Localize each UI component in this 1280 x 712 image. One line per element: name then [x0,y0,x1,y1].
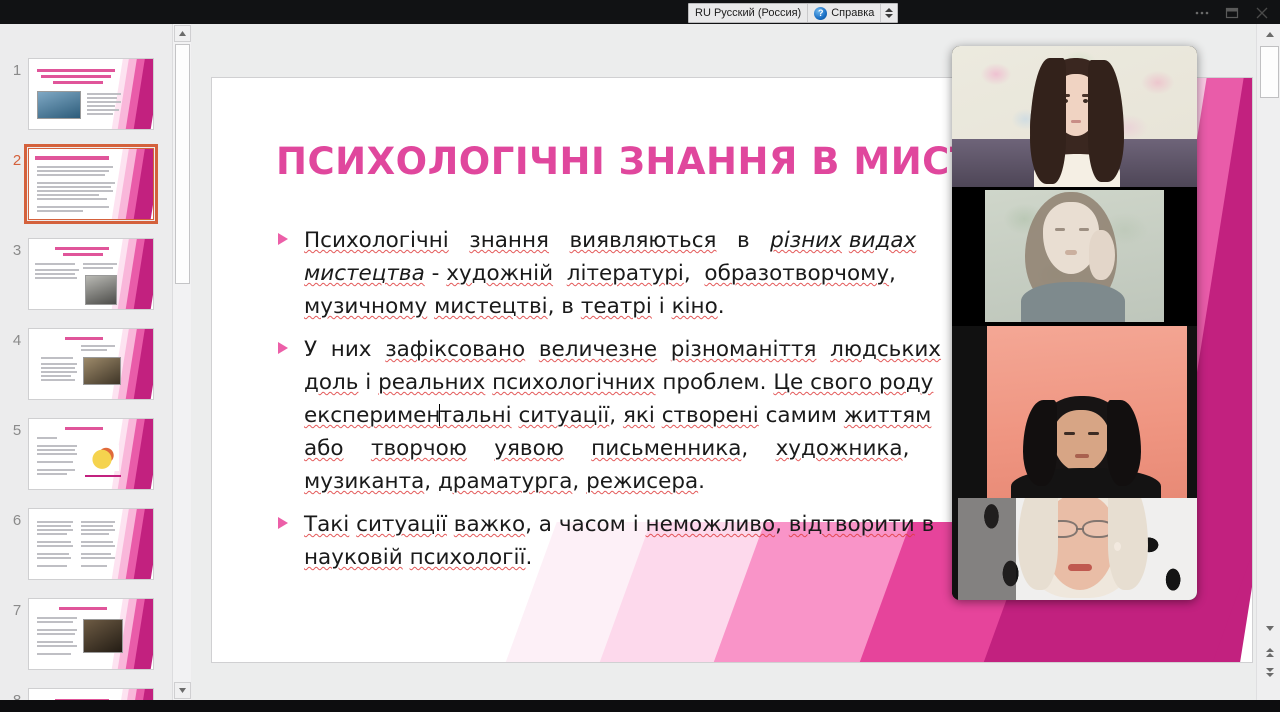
thumbnail-slide-7[interactable]: 7 [6,598,168,670]
language-bar[interactable]: RU Русский (Россия) ? Справка [688,3,898,23]
help-icon: ? [814,7,827,20]
slide-thumbnail-pane[interactable]: 1 2 [0,24,172,700]
thumbnail-canvas[interactable] [28,418,154,490]
thumbnail-number: 7 [6,598,28,619]
bullet-marker-icon [278,517,288,529]
thumbnail-number: 2 [6,148,28,169]
thumbnail-number: 3 [6,238,28,259]
restore-window-icon[interactable] [1218,2,1246,24]
slide-scroll-thumb[interactable] [1260,46,1279,98]
thumbnail-scrollbar[interactable] [172,24,191,700]
thumbnail-canvas[interactable] [28,598,154,670]
thumbnail-number: 8 [6,688,28,700]
theme-decoration [29,509,153,579]
previous-slide-button[interactable] [1261,644,1278,661]
video-tile-1-feed [952,46,1197,187]
video-tile-3-feed [952,326,1197,498]
window-top-black-bar [0,0,1280,24]
slide-scroll-up-button[interactable] [1261,26,1278,43]
language-layout-label: RU Русский (Россия) [695,7,801,19]
thumbnail-scroll-up-button[interactable] [174,25,191,42]
help-label: Справка [831,7,874,19]
thumbnail-slide-1[interactable]: 1 [6,58,168,130]
thumbnail-number: 5 [6,418,28,439]
thumbnail-slide-3[interactable]: 3 [6,238,168,310]
help-button[interactable]: ? Справка [808,4,881,22]
slide-scroll-down-button[interactable] [1261,620,1278,637]
more-options-icon[interactable] [1188,2,1216,24]
thumbnail-scroll-thumb[interactable] [175,44,190,284]
window-bottom-black-bar [0,700,1280,712]
thumbnail-canvas[interactable] [28,328,154,400]
video-tile-4-feed [952,498,1197,600]
thumbnail-slide-6[interactable]: 6 [6,508,168,580]
language-layout-button[interactable]: RU Русский (Россия) [689,4,808,22]
thumbnail-slide-2[interactable]: 2 [6,148,168,220]
drag-grip-icon[interactable] [881,4,897,22]
thumbnail-slide-5[interactable]: 5 [6,418,168,490]
bullet-marker-icon [278,233,288,245]
close-window-icon[interactable] [1248,2,1276,24]
thumbnail-canvas-selected[interactable] [28,148,154,220]
video-conference-panel[interactable] [952,46,1197,600]
thumbnail-number: 1 [6,58,28,79]
thumbnail-number: 4 [6,328,28,349]
window-controls[interactable] [1188,2,1276,24]
bullet-marker-icon [278,342,288,354]
thumbnail-slide-8[interactable]: 8 [6,688,168,700]
video-tile-4[interactable] [952,498,1197,600]
video-tile-2[interactable] [952,187,1197,326]
thumbnail-canvas[interactable] [28,688,154,700]
next-slide-button[interactable] [1261,664,1278,681]
slide-pane-scrollbar[interactable] [1256,24,1280,700]
video-tile-1[interactable] [952,46,1197,187]
thumbnail-slide-4[interactable]: 4 [6,328,168,400]
video-tile-3[interactable] [952,326,1197,498]
thumbnail-scroll-down-button[interactable] [174,682,191,699]
thumbnail-number: 6 [6,508,28,529]
thumbnail-canvas[interactable] [28,238,154,310]
thumbnail-canvas[interactable] [28,58,154,130]
thumbnail-canvas[interactable] [28,508,154,580]
video-tile-2-feed [952,187,1197,326]
